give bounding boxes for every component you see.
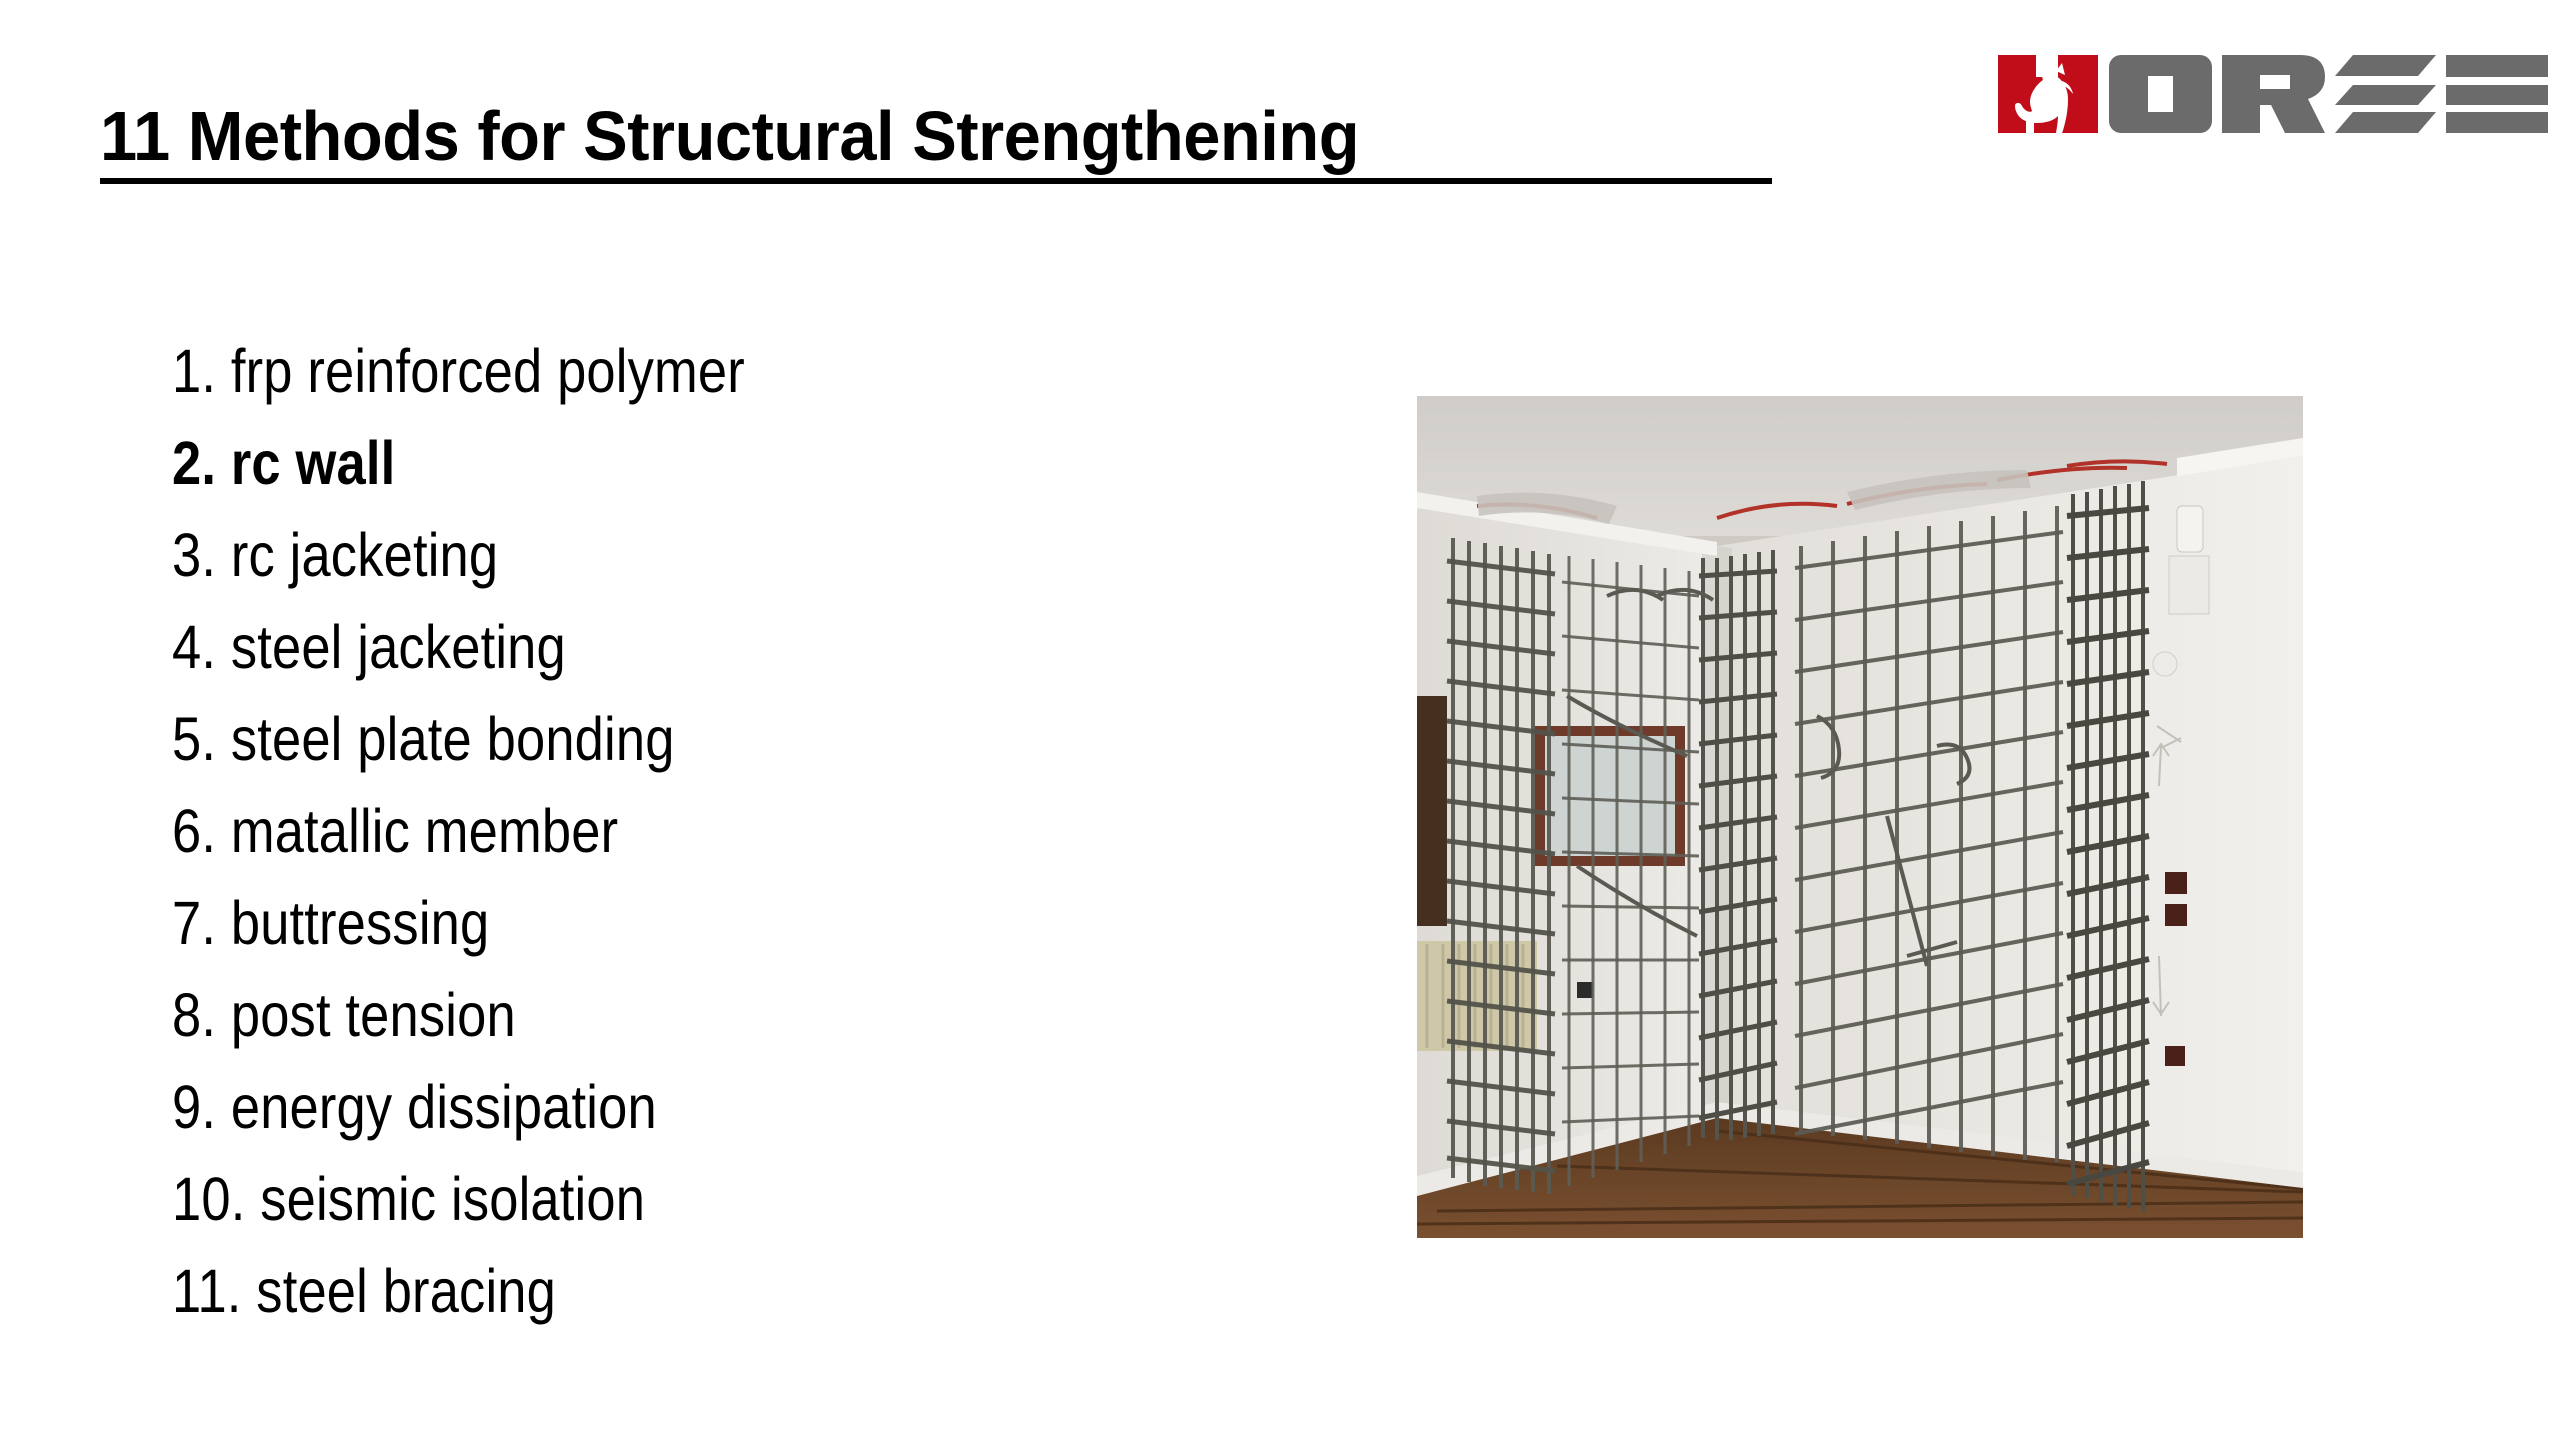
page-title: 11 Methods for Structural Strengthening [100,96,1724,176]
list-item: 4. steel jacketing [172,601,1170,693]
rc-wall-construction-photo [1417,396,2303,1238]
list-item: 6. matallic member [172,785,1170,877]
slide-canvas: 11 Methods for Structural Strengthening … [0,0,2560,1440]
horse-head-icon [1998,55,2098,133]
brand-logo [1998,55,2543,133]
list-item: 11. steel bracing [172,1245,1170,1337]
list-item: 5. steel plate bonding [172,693,1170,785]
logo-letter-e [2446,55,2548,133]
title-block: 11 Methods for Structural Strengthening [100,96,1800,184]
title-underline-rule [100,178,1772,184]
list-item: 7. buttressing [172,877,1170,969]
list-item: 1. frp reinforced polymer [172,325,1170,417]
logo-letter-o [2109,55,2212,133]
list-item: 2. rc wall [172,417,1170,509]
brand-wordmark [2109,55,2558,133]
list-item: 10. seismic isolation [172,1153,1170,1245]
rc-wall-photo-illustration [1417,396,2303,1238]
methods-list: 1. frp reinforced polymer 2. rc wall 3. … [172,325,1332,1337]
horse-head-silhouette [1998,55,2098,133]
list-item: 3. rc jacketing [172,509,1170,601]
list-item: 9. energy dissipation [172,1061,1170,1153]
list-item: 8. post tension [172,969,1170,1061]
logo-letter-r [2222,55,2325,133]
logo-letter-s [2335,55,2436,133]
